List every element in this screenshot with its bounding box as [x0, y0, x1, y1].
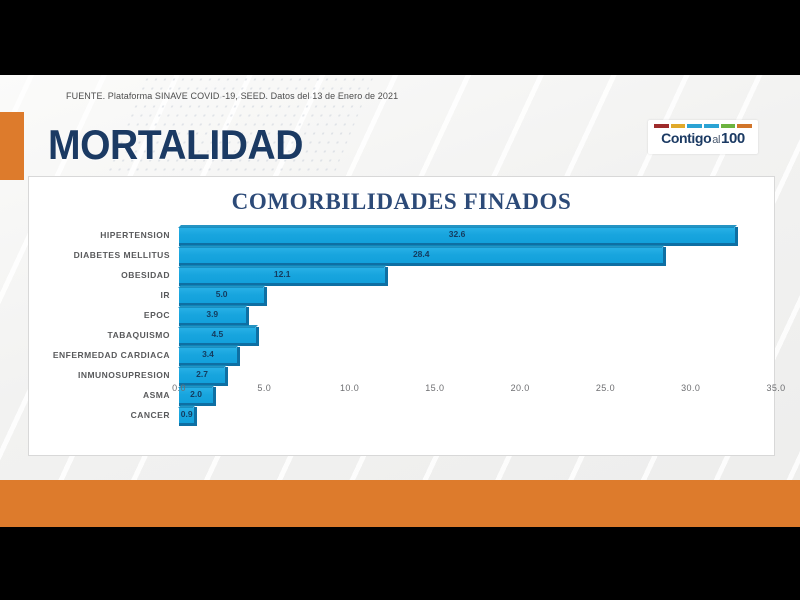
category-label: EPOC [29, 310, 179, 320]
x-axis-tick-label: 0.0 [172, 383, 186, 393]
category-label: ASMA [29, 390, 179, 400]
slide-frame: MORTALIDAD Contigoal100 COMORBILIDADES F… [0, 0, 800, 600]
bar-row: DIABETES MELLITUS28.4 [29, 245, 776, 265]
letterbox-bottom [0, 527, 800, 600]
bar-row: INMUNOSUPRESION2.7 [29, 365, 776, 385]
bar-zone: 12.1 [179, 265, 776, 285]
x-axis-tick-label: 15.0 [425, 383, 444, 393]
bar-value-label: 12.1 [179, 267, 385, 282]
letterbox-top [0, 0, 800, 75]
logo-bar-3 [704, 124, 719, 128]
bar-value-label: 2.7 [179, 367, 225, 382]
logo-wordmark: Contigoal100 [652, 131, 754, 146]
slide-content: MORTALIDAD Contigoal100 COMORBILIDADES F… [0, 75, 800, 527]
bar-row: EPOC3.9 [29, 305, 776, 325]
bar-value-label: 0.9 [173, 407, 200, 422]
orange-accent-bar [0, 112, 24, 180]
x-axis-tick-label: 30.0 [681, 383, 700, 393]
bar-zone: 2.7 [179, 365, 776, 385]
category-label: OBESIDAD [29, 270, 179, 280]
logo-bar-5 [737, 124, 752, 128]
category-label: TABAQUISMO [29, 330, 179, 340]
page-title: MORTALIDAD [48, 121, 303, 169]
bar-value-label: 3.4 [179, 347, 237, 362]
category-label: HIPERTENSION [29, 230, 179, 240]
category-label: INMUNOSUPRESION [29, 370, 179, 380]
logo-text-al: al [712, 135, 720, 146]
bar-row: CANCER0.9 [29, 405, 776, 425]
bar-zone: 3.9 [179, 305, 776, 325]
logo-text-contigo: Contigo [661, 131, 711, 145]
x-axis: 0.05.010.015.020.025.030.035.0 [179, 383, 776, 403]
x-axis-tick-label: 25.0 [596, 383, 615, 393]
bar-zone: 3.4 [179, 345, 776, 365]
bar-value-label: 32.6 [179, 227, 735, 242]
x-axis-tick-label: 20.0 [511, 383, 530, 393]
x-axis-tick-label: 10.0 [340, 383, 359, 393]
bar-zone: 28.4 [179, 245, 776, 265]
bar-zone: 0.9 [179, 405, 776, 425]
category-label: IR [29, 290, 179, 300]
logo-bar-4 [721, 124, 736, 128]
logo-color-bars [654, 124, 752, 128]
footer-source-text: FUENTE. Plataforma SINAVE COVID -19, SEE… [66, 91, 398, 101]
contigo-al-100-logo: Contigoal100 [648, 120, 758, 154]
logo-bar-2 [687, 124, 702, 128]
bar-zone: 5.0 [179, 285, 776, 305]
x-axis-tick-label: 35.0 [766, 383, 785, 393]
chart-panel: COMORBILIDADES FINADOS HIPERTENSION32.6D… [28, 176, 775, 456]
bar-value-label: 28.4 [179, 247, 663, 262]
logo-bar-1 [671, 124, 686, 128]
bar-rows: HIPERTENSION32.6DIABETES MELLITUS28.4OBE… [29, 225, 776, 407]
bar-zone: 32.6 [179, 225, 776, 245]
bar-row: OBESIDAD12.1 [29, 265, 776, 285]
bar-value-label: 3.9 [179, 307, 246, 322]
category-label: DIABETES MELLITUS [29, 250, 179, 260]
chart-plot-area: HIPERTENSION32.6DIABETES MELLITUS28.4OBE… [29, 225, 776, 407]
bar-value-label: 5.0 [179, 287, 264, 302]
footer-bar [0, 480, 800, 527]
bar-row: HIPERTENSION32.6 [29, 225, 776, 245]
category-label: ENFERMEDAD CARDIACA [29, 350, 179, 360]
bar-zone: 4.5 [179, 325, 776, 345]
x-axis-tick-label: 5.0 [257, 383, 271, 393]
chart-title: COMORBILIDADES FINADOS [29, 189, 774, 215]
bar-row: ENFERMEDAD CARDIACA3.4 [29, 345, 776, 365]
bar-value-label: 4.5 [179, 327, 256, 342]
logo-bar-0 [654, 124, 669, 128]
bar-row: TABAQUISMO4.5 [29, 325, 776, 345]
bar-row: IR5.0 [29, 285, 776, 305]
category-label: CANCER [29, 410, 179, 420]
logo-text-100: 100 [721, 131, 745, 146]
